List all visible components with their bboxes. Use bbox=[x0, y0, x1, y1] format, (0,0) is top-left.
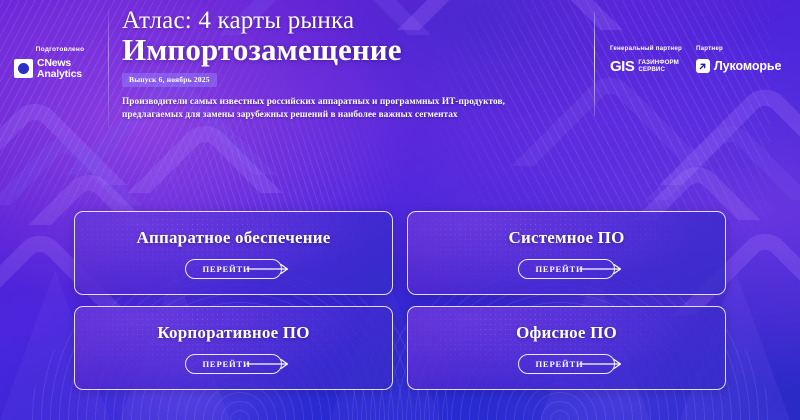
header-divider-left bbox=[108, 10, 109, 128]
subtitle-text: Производители самых известных российских… bbox=[122, 96, 554, 123]
arrow-right-icon bbox=[580, 358, 626, 370]
partner: Партнер Лукоморье bbox=[696, 45, 781, 74]
gis-wordmark: GIS bbox=[610, 59, 634, 74]
card-title: Корпоративное ПО bbox=[157, 323, 309, 343]
lukomorye-logo[interactable]: Лукоморье bbox=[696, 59, 781, 73]
issue-badge: Выпуск 6, ноябрь 2025 bbox=[122, 73, 217, 87]
arrow-up-right-icon bbox=[696, 59, 710, 73]
card-title: Системное ПО bbox=[508, 228, 624, 248]
go-button[interactable]: ПЕРЕЙТИ bbox=[185, 354, 281, 374]
go-button[interactable]: ПЕРЕЙТИ bbox=[518, 354, 614, 374]
brand-line-1: CNews bbox=[37, 58, 82, 69]
go-button[interactable]: ПЕРЕЙТИ bbox=[185, 259, 281, 279]
partners-block: Генеральный партнер GIS ГАЗИНФОРМ СЕРВИС… bbox=[610, 45, 781, 74]
prepared-by-label: Подготовлено bbox=[14, 46, 106, 53]
title-block: Атлас: 4 карты рынка Импортозамещение Вы… bbox=[122, 8, 582, 123]
title-kicker: Атлас: 4 карты рынка bbox=[122, 8, 582, 34]
card-system-software[interactable]: Системное ПО ПЕРЕЙТИ bbox=[407, 211, 726, 295]
gis-logo[interactable]: GIS ГАЗИНФОРМ СЕРВИС bbox=[610, 59, 682, 74]
header-divider-right bbox=[594, 12, 595, 116]
arrow-right-icon bbox=[247, 263, 293, 275]
card-hardware[interactable]: Аппаратное обеспечение ПЕРЕЙТИ bbox=[74, 211, 393, 295]
card-title: Офисное ПО bbox=[516, 323, 617, 343]
arrow-right-icon bbox=[580, 263, 626, 275]
general-partner-label: Генеральный партнер bbox=[610, 45, 682, 52]
cnews-analytics-logo[interactable]: CNews Analytics bbox=[14, 58, 106, 79]
page-title: Импортозамещение bbox=[122, 33, 582, 66]
brand-line-2: Analytics bbox=[37, 69, 82, 80]
category-cards: Аппаратное обеспечение ПЕРЕЙТИ Системное… bbox=[74, 211, 726, 390]
banner-header: Подготовлено CNews Analytics Атлас: 4 ка… bbox=[0, 0, 800, 135]
arrow-right-icon bbox=[247, 358, 293, 370]
gis-name-line-2: СЕРВИС bbox=[638, 67, 679, 74]
general-partner: Генеральный партнер GIS ГАЗИНФОРМ СЕРВИС bbox=[610, 45, 682, 74]
lukomorye-name: Лукоморье bbox=[714, 59, 781, 73]
card-title: Аппаратное обеспечение bbox=[137, 228, 331, 248]
card-corporate-software[interactable]: Корпоративное ПО ПЕРЕЙТИ bbox=[74, 306, 393, 390]
prepared-by-block: Подготовлено CNews Analytics bbox=[14, 46, 106, 79]
go-button[interactable]: ПЕРЕЙТИ bbox=[518, 259, 614, 279]
circle-logo-icon bbox=[14, 59, 33, 78]
card-office-software[interactable]: Офисное ПО ПЕРЕЙТИ bbox=[407, 306, 726, 390]
promo-banner: Подготовлено CNews Analytics Атлас: 4 ка… bbox=[0, 0, 800, 420]
partner-label: Партнер bbox=[696, 45, 781, 52]
